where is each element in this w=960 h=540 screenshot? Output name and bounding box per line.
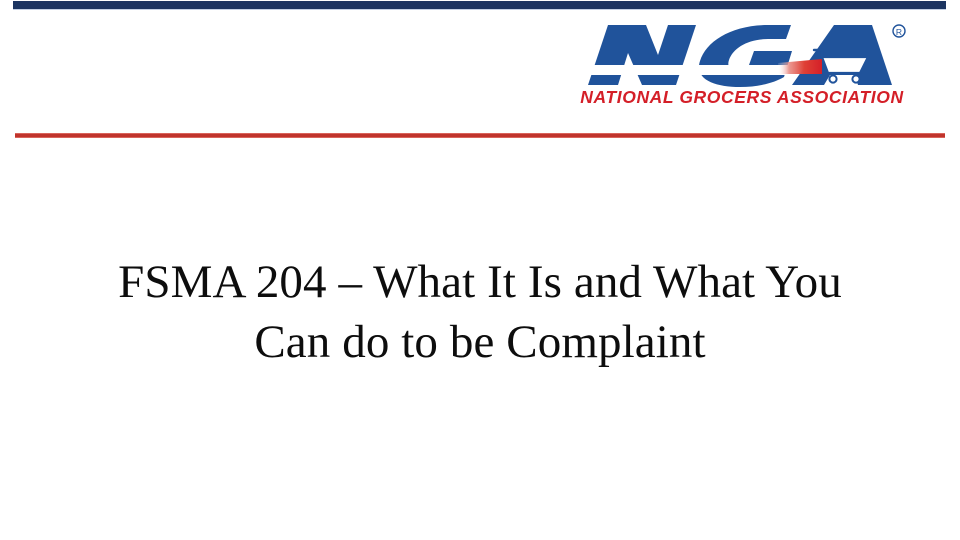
svg-text:R: R (896, 27, 902, 37)
nga-logo: R NATIONAL GROCERS ASSOCIATION (572, 17, 912, 115)
title-area: FSMA 204 – What It Is and What You Can d… (48, 252, 912, 372)
title-line-1: FSMA 204 – What It Is and What You (48, 252, 912, 312)
presentation-slide: R NATIONAL GROCERS ASSOCIATION FSMA 204 … (0, 0, 960, 540)
red-divider-rule (15, 133, 945, 138)
page-title: FSMA 204 – What It Is and What You Can d… (48, 252, 912, 372)
nga-tagline: NATIONAL GROCERS ASSOCIATION (577, 89, 907, 107)
title-line-2: Can do to be Complaint (48, 312, 912, 372)
nga-wordmark-icon: R (572, 17, 912, 95)
registered-trademark-icon: R (893, 25, 905, 37)
top-accent-bar (13, 1, 946, 10)
